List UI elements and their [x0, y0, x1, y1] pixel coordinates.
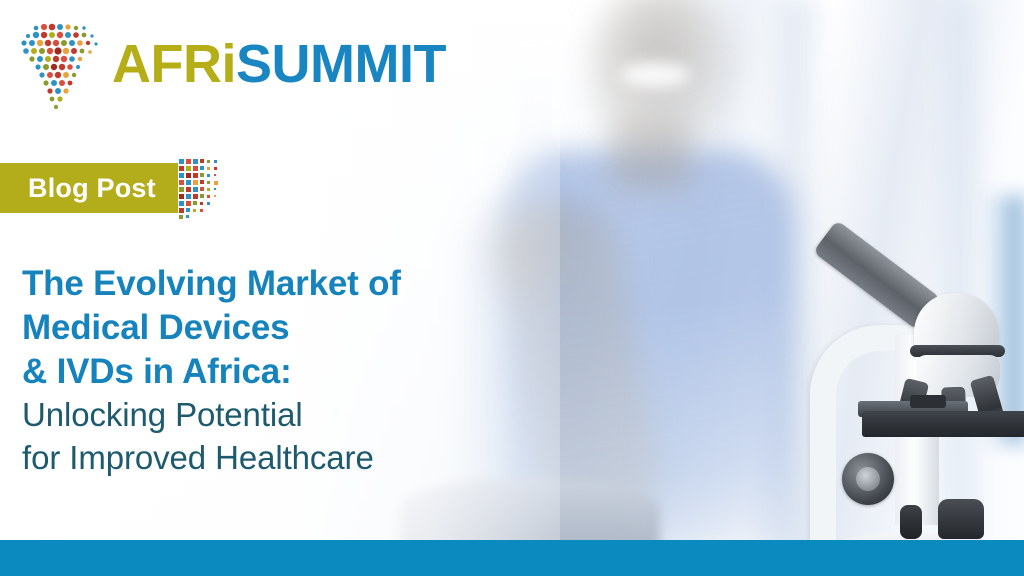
logo-wordmark: AFRiSUMMIT: [112, 37, 446, 91]
microscope-slide-clip: [910, 395, 946, 408]
headline-block: The Evolving Market of Medical Devices &…: [22, 262, 522, 480]
headline-line-1: The Evolving Market of: [22, 262, 522, 306]
dotted-grid-pattern-icon: [178, 157, 234, 219]
microscope-fine-focus-knob: [856, 467, 880, 491]
microscope-illuminator: [938, 499, 984, 539]
blog-post-badge: Blog Post: [0, 163, 178, 213]
technician-smile: [620, 62, 690, 88]
headline-line-3: & IVDs in Africa:: [22, 350, 522, 394]
microscope-illustration: [790, 215, 1024, 545]
microscope-stage: [862, 411, 1024, 437]
blog-post-banner: AFRiSUMMIT Blog Post: [0, 0, 1024, 576]
afrisummit-logo[interactable]: AFRiSUMMIT: [18, 16, 446, 112]
logo-summit-text: SUMMIT: [236, 34, 446, 94]
blog-post-badge-row: Blog Post: [0, 163, 234, 213]
footer-bar: [0, 540, 1024, 576]
subheadline-line-2: for Improved Healthcare: [22, 437, 522, 480]
microscope-condenser-knob: [900, 505, 922, 539]
logo-afri-text: AFRi: [112, 34, 236, 94]
subheadline-line-1: Unlocking Potential: [22, 394, 522, 437]
headline-line-2: Medical Devices: [22, 306, 522, 350]
dotted-africa-map-icon: [18, 16, 104, 112]
